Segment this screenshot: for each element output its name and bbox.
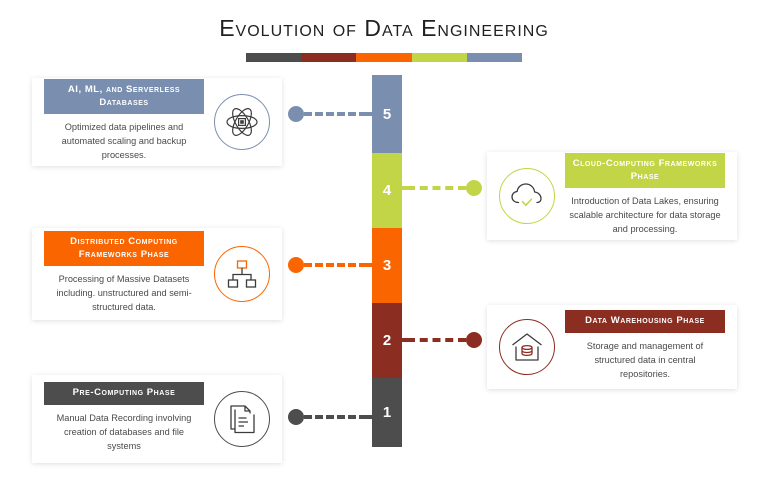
step-card-3[interactable]: Distributed Computing Frameworks Phase P…	[32, 228, 282, 320]
connector-dot-1	[288, 409, 304, 425]
step-card-2-body: Data Warehousing Phase Storage and manag…	[565, 310, 725, 383]
connector-dash-3	[304, 263, 367, 267]
step-card-4-body: Cloud-Computing Frameworks Phase Introdu…	[565, 153, 725, 238]
connector-dot-2	[466, 332, 482, 348]
step-card-3-body: Distributed Computing Frameworks Phase P…	[44, 231, 204, 316]
step-card-4-text: Introduction of Data Lakes, ensuring sca…	[565, 188, 725, 239]
step-card-1[interactable]: Pre-Computing Phase Manual Data Recordin…	[32, 375, 282, 463]
connector-step-5	[288, 105, 374, 123]
step-card-3-text: Processing of Massive Datasets including…	[44, 266, 204, 317]
hierarchy-icon	[214, 246, 270, 302]
spine-number-1: 1	[383, 405, 391, 420]
connector-stub-1	[367, 415, 374, 419]
infographic-canvas: Evolution of Data Engineering 5 4 3 2 1	[0, 0, 768, 483]
step-card-1-heading: Pre-Computing Phase	[44, 382, 204, 404]
title-color-rule	[246, 53, 522, 62]
rule-segment-2	[301, 53, 356, 62]
step-card-4[interactable]: Cloud-Computing Frameworks Phase Introdu…	[487, 152, 737, 240]
step-card-1-text: Manual Data Recording involving creation…	[44, 405, 204, 456]
warehouse-database-icon	[499, 319, 555, 375]
connector-stub-4	[400, 186, 407, 190]
atom-icon	[214, 94, 270, 150]
page-title: Evolution of Data Engineering	[0, 15, 768, 42]
connector-dot-5	[288, 106, 304, 122]
spine-segment-2: 2	[372, 303, 402, 378]
cloud-check-icon	[499, 168, 555, 224]
spine-segment-3: 3	[372, 228, 402, 303]
step-card-1-body: Pre-Computing Phase Manual Data Recordin…	[44, 382, 204, 455]
step-card-3-heading: Distributed Computing Frameworks Phase	[44, 231, 204, 265]
connector-dash-5	[304, 112, 367, 116]
connector-dash-1	[304, 415, 367, 419]
rule-segment-3	[356, 53, 411, 62]
step-card-2-text: Storage and management of structured dat…	[565, 333, 725, 384]
connector-dash-4	[407, 186, 466, 190]
connector-dash-2	[407, 338, 466, 342]
connector-step-4	[400, 179, 482, 197]
connector-step-2	[400, 331, 482, 349]
spine-number-3: 3	[383, 258, 391, 273]
rule-segment-4	[412, 53, 467, 62]
rule-segment-1	[246, 53, 301, 62]
step-card-2-heading: Data Warehousing Phase	[565, 310, 725, 332]
connector-stub-3	[367, 263, 374, 267]
connector-step-3	[288, 256, 374, 274]
spine-segment-4: 4	[372, 153, 402, 228]
spine-segment-1: 1	[372, 378, 402, 447]
rule-segment-5	[467, 53, 522, 62]
spine-number-5: 5	[383, 107, 391, 122]
step-card-2[interactable]: Data Warehousing Phase Storage and manag…	[487, 305, 737, 389]
step-card-5[interactable]: AI, ML, and Serverless Databases Optimiz…	[32, 78, 282, 166]
connector-stub-5	[367, 112, 374, 116]
connector-step-1	[288, 408, 374, 426]
connector-dot-4	[466, 180, 482, 196]
connector-dot-3	[288, 257, 304, 273]
timeline-spine: 5 4 3 2 1	[372, 75, 402, 447]
step-card-4-heading: Cloud-Computing Frameworks Phase	[565, 153, 725, 187]
step-card-5-text: Optimized data pipelines and automated s…	[44, 114, 204, 165]
spine-number-4: 4	[383, 183, 391, 198]
spine-number-2: 2	[383, 333, 391, 348]
connector-stub-2	[400, 338, 407, 342]
step-card-5-body: AI, ML, and Serverless Databases Optimiz…	[44, 79, 204, 164]
spine-segment-5: 5	[372, 75, 402, 153]
documents-icon	[214, 391, 270, 447]
step-card-5-heading: AI, ML, and Serverless Databases	[44, 79, 204, 113]
